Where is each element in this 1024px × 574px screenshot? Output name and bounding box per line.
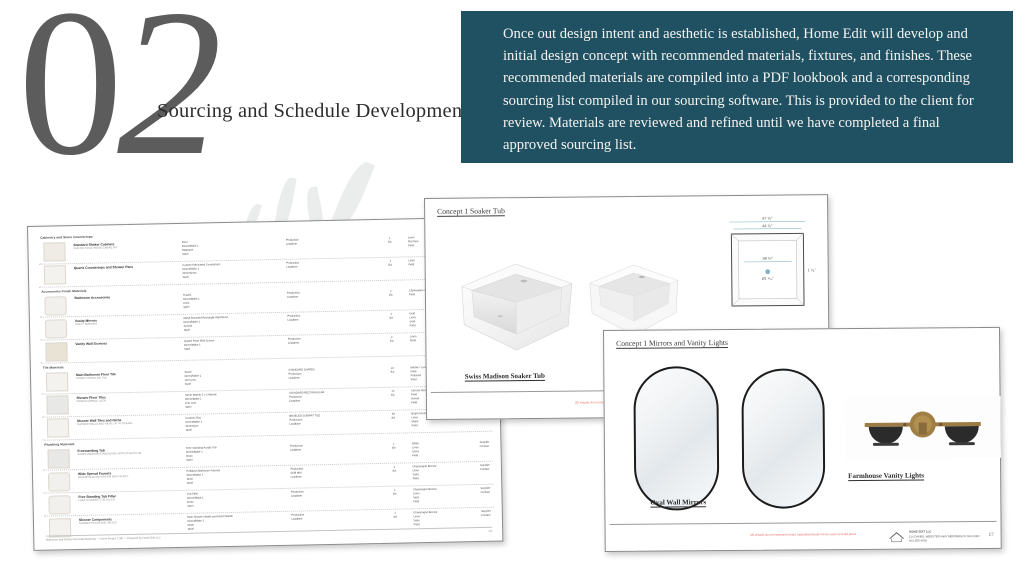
row-spec-cell: Production Leadtime (284, 288, 376, 312)
row-name: Vanity Wall Sconces (75, 340, 178, 346)
row-thumbnail (42, 447, 74, 470)
row-finish-cell: Champagne Bronze Linen Satin Field (409, 462, 477, 485)
row-description-cell: Tub Filler Direct/Make 1 Drain Steel (184, 489, 288, 513)
home-edit-logo-icon (889, 530, 905, 542)
slide-number: 02 (18, 0, 216, 188)
oval-mirror-render (741, 368, 825, 509)
row-thumbnail (40, 317, 72, 340)
row-supplier-cell: Supplier Contact (477, 485, 493, 507)
row-description-cell: Towels Direct/Make 1 Units Steel (180, 290, 284, 314)
tub-doc-title: Concept 1 Soaker Tub (437, 206, 505, 216)
slide-canvas: 02 Sourcing and Schedule Development Onc… (0, 0, 1024, 574)
row-thumbnail (39, 294, 71, 317)
row-description-cell: Ceramic Run Direct/Make 1 Dimension Stee… (182, 412, 286, 436)
row-qty-cell: 1 EA (375, 257, 406, 280)
dimension-drain: Ø1 ⁹⁄₁₆" (762, 277, 775, 281)
row-description-cell: Custom Fabricated Countertops Direct/Mak… (179, 259, 283, 283)
vanity-light-render (845, 396, 1001, 459)
row-name-cell: Vanity Mirrors VANITY MIRRORS (72, 315, 181, 339)
mirror-product-caption: Oval Wall Mirrors (650, 498, 706, 506)
row-qty-cell: 1 EA (379, 440, 410, 463)
row-spec-cell: Production Leadtime (283, 258, 375, 282)
row-supplier-cell: Supplier Contact (477, 439, 493, 461)
soaker-tub-render-large (456, 260, 579, 353)
row-description-cell: Pulldown Bathroom Faucets Direct/Make 1 … (183, 466, 287, 490)
row-name-cell: Standard Shaker Cabinets PAINTED SOLID W… (70, 238, 179, 262)
row-name-cell: Quartz Countertops and Shower Pans (71, 261, 180, 285)
row-supplier-cell: Supplier Contact (477, 462, 493, 484)
row-thumbnail (43, 493, 75, 516)
row-qty-cell: 2 EA (376, 310, 407, 333)
row-name: Quartz Countertops and Shower Pans (74, 264, 177, 270)
row-name: Bathroom Accessories (74, 294, 177, 300)
footer-company-block: HOME EDIT LLC 114 DANIEL WEBSTER HWY MER… (909, 529, 980, 542)
slide-number-first: 0 (18, 0, 117, 199)
row-thumbnail (39, 264, 71, 287)
row-thumbnail (40, 340, 72, 363)
page-title: Sourcing and Schedule Development (157, 100, 468, 123)
row-thumbnail (42, 417, 74, 440)
row-name-cell: Bathroom Accessories (71, 292, 180, 316)
row-spec-cell: BEVELED SUBWAY TILE Production Leadtime (286, 410, 378, 434)
row-description-cell: Quatre Point Wall Sconce Direct/Make 1 S… (181, 336, 285, 360)
row-spec-cell: Production Leadtime (288, 487, 380, 511)
sheet-footer-left: Bathroom and Kitchen Remodel Materials —… (46, 536, 160, 541)
row-subtitle: WIDESPREAD BATHROOM SINK FAUCET (78, 474, 181, 479)
row-spec-cell: Production Leadtime (287, 441, 379, 465)
mirrors-document[interactable]: Concept 1 Mirrors and Vanity Lights Oval… (603, 327, 1002, 552)
row-thumbnail (41, 371, 73, 394)
dimension-depth: 38 ¼" (762, 256, 773, 261)
row-name-cell: Freestanding Tub SWISS MADISON STANDALON… (74, 445, 183, 469)
callout-body: Once out design intent and aesthetic is … (503, 23, 987, 156)
row-subtitle: FREE STANDING TUB FILLER (78, 497, 181, 502)
row-description-cell: Stone Direct/Make 1 Unit Cost Steel (181, 366, 285, 390)
row-qty-cell: 22 EA (377, 364, 408, 387)
row-spec-cell: Production Leadtime (284, 311, 376, 335)
row-qty-cell: 2 EA (379, 463, 410, 486)
page-number: 17 (989, 533, 994, 538)
row-spec-cell: STANDARD RECTANGULAR Production Leadtime (286, 387, 378, 411)
row-spec-cell: STANDARD SHAPES Production Leadtime (285, 364, 377, 388)
row-spec-cell: Production Leadtime (283, 235, 375, 259)
row-finish-cell: Champagne Bronze Linen Satin Field (410, 485, 478, 508)
dimension-inner-width: 44 ¼" (762, 223, 773, 228)
row-spec-cell: Production SOB MM Leadtime (287, 464, 379, 488)
oval-mirror-render (633, 366, 719, 511)
tub-product-caption: Swiss Madison Soaker Tub (465, 372, 545, 381)
row-description-cell: Door Direct/Make 1 Flatpanel Steel (179, 236, 283, 260)
row-description-cell: Metal Rounded Rectangle Wall Mirror Dire… (180, 313, 284, 337)
mirror-disclaimer: 3D visuals do not represent exact materi… (750, 532, 856, 537)
row-qty-cell: 1 EA (380, 486, 411, 509)
row-name-cell: Main Bathroom Floor Tile HONED PORCELAIN… (73, 368, 182, 392)
row-thumbnail (41, 394, 73, 417)
tub-technical-drawing: 47 ¼" 44 ¼" 38 ¼" Ø1 ⁹⁄₁₆" 1 ⁵⁄₈" (719, 211, 816, 312)
row-qty-cell: 48 EA (378, 410, 409, 433)
row-description-cell: Free Standing Acrylic Tub Direct/Make 1 … (183, 443, 287, 467)
row-finish-cell: White Linen Gloss Field (409, 439, 477, 462)
soaker-tub-render-small (586, 261, 683, 338)
footer-branding: HOME EDIT LLC 114 DANIEL WEBSTER HWY MER… (889, 529, 994, 542)
mirror-doc-title: Concept 1 Mirrors and Vanity Lights (616, 338, 728, 348)
row-name-cell: Vanity Wall Sconces (72, 338, 181, 362)
row-qty-cell: 2 EA (377, 333, 408, 356)
row-subtitle: VANITY MIRRORS (75, 321, 178, 326)
row-qty-cell: 1 EA (375, 234, 406, 257)
footer-phone: 603-555-4855 (909, 538, 980, 543)
dimension-overall-width: 47 ¼" (762, 216, 773, 221)
row-qty-cell: 10 EA (378, 387, 409, 410)
row-name-cell: Shower Floor Tiles MOSAIC MARBLE LOOK (73, 391, 182, 415)
row-description-cell: Stone Marble 2 x 2 Mosaic Direct/Make 1 … (182, 389, 286, 413)
row-subtitle: SHOWER HEADS AND VALVES (79, 520, 182, 525)
light-product-caption: Farmhouse Vanity Lights (848, 471, 924, 480)
row-thumbnail (43, 470, 75, 493)
row-name-cell: Free Standing Tub Filler FREE STANDING T… (75, 491, 184, 515)
row-qty-cell: 1 EA (376, 287, 407, 310)
row-name-cell: Wide Spread Faucets WIDESPREAD BATHROOM … (75, 468, 184, 492)
row-spec-cell: Production Leadtime (285, 334, 377, 358)
row-subtitle: SWISS MADISON STANDALONE ACRYLIC BATHTUB (78, 451, 181, 456)
callout-panel: Once out design intent and aesthetic is … (461, 11, 1013, 163)
sheet-footer-right: 1/2 (488, 530, 492, 533)
dimension-rim: 1 ⁵⁄₈" (808, 268, 816, 272)
row-name-cell: Shower Wall Tiles and Niche SHOWER WALLS… (74, 414, 183, 438)
row-thumbnail (38, 241, 70, 264)
